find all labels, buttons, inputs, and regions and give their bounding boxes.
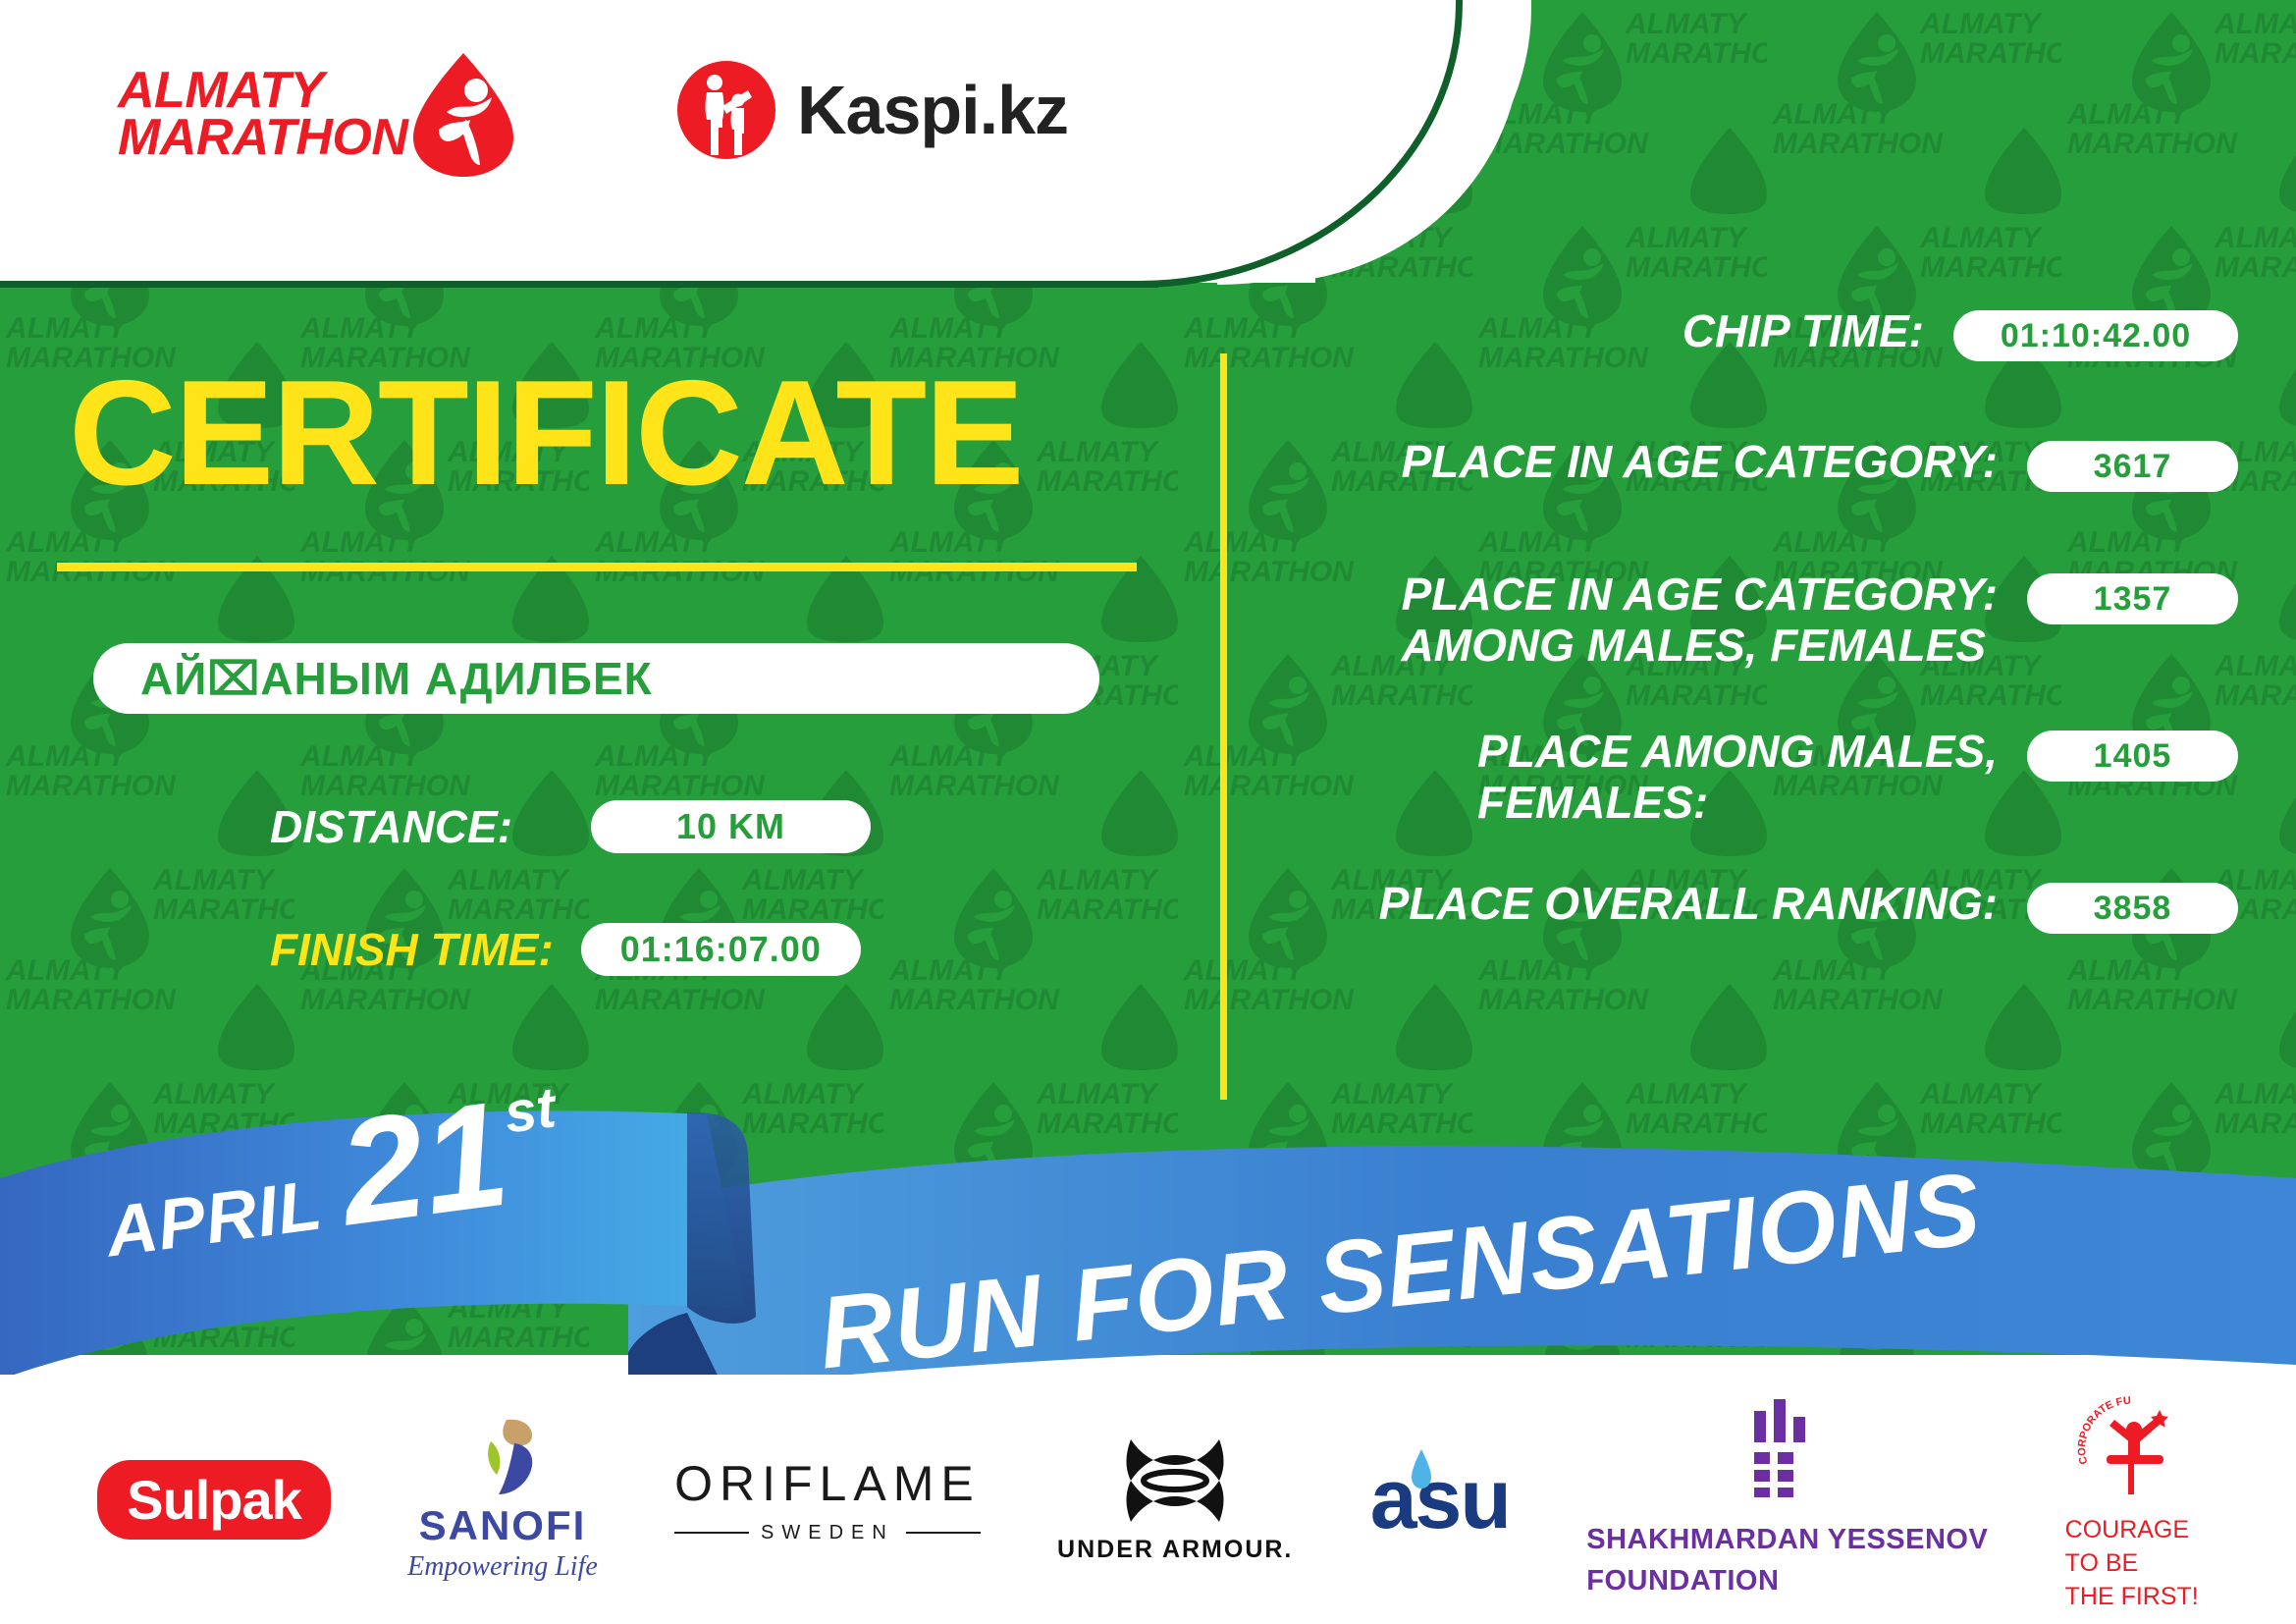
asu-text: asu: [1370, 1452, 1510, 1546]
courage-line1: COURAGE: [2065, 1514, 2199, 1547]
sponsor-logo-sulpak: Sulpak: [97, 1460, 331, 1540]
result-value-pill: 1405: [2027, 731, 2238, 782]
result-value: 1357: [2094, 580, 2172, 619]
almaty-marathon-line2: MARATHON: [118, 115, 407, 162]
event-day-ordinal: st: [501, 1074, 560, 1146]
sponsor-logo-yessenov-foundation: SHAKHMARDAN YESSENOV FOUNDATION: [1586, 1397, 1988, 1601]
almaty-marathon-wordmark: ALMATY MARATHON: [118, 68, 407, 162]
sanofi-tagline: Empowering Life: [407, 1551, 598, 1583]
kaspi-logo: Kaspi.kz: [677, 61, 1068, 159]
courage-line2: TO BE: [2065, 1547, 2199, 1581]
kaspi-people-circle-icon: [677, 61, 775, 159]
result-label: CHIP TIME:: [1682, 306, 1924, 357]
result-label: PLACE IN AGE CATEGORY:: [1402, 437, 1998, 488]
oriflame-sub: SWEDEN: [674, 1522, 981, 1544]
result-value-pill: 1357: [2027, 573, 2238, 624]
yessenov-line1: SHAKHMARDAN YESSENOV: [1586, 1519, 1988, 1560]
result-row: PLACE OVERALL RANKING: 3858: [1237, 879, 2238, 934]
result-value-pill: 3617: [2027, 441, 2238, 492]
title-divider-rule: [57, 563, 1137, 571]
yessenov-bars-icon: [1750, 1397, 1825, 1497]
svg-text:CORPORATE FUND: CORPORATE FUND: [2077, 1384, 2131, 1465]
result-value: 1405: [2094, 737, 2172, 776]
sponsor-logo-asu: asu: [1370, 1451, 1510, 1548]
sanofi-bird-icon: [455, 1416, 550, 1500]
result-row: PLACE AMONG MALES,FEMALES: 1405: [1237, 727, 2238, 828]
asu-drop-icon: [1410, 1447, 1433, 1490]
certificate-page: ALMATY MARATHON Kaspi.kz: [0, 0, 2296, 1624]
participant-name-field: АЙ⌧АНЫМ АДИЛБЕК: [93, 643, 1099, 714]
sponsor-logo-under-armour: UNDER ARMOUR.: [1057, 1435, 1293, 1564]
sanofi-wordmark: SANOFI: [419, 1502, 587, 1549]
oriflame-wordmark: ORIFLAME: [674, 1455, 981, 1512]
asu-wordmark: asu: [1370, 1451, 1510, 1548]
result-row: CHIP TIME: 01:10:42.00: [1237, 306, 2238, 361]
corporate-fund-figure-icon: CORPORATE FUND: [2077, 1384, 2187, 1500]
sponsor-logo-oriflame: ORIFLAME SWEDEN: [674, 1455, 981, 1544]
sulpak-wordmark: Sulpak: [127, 1468, 301, 1532]
under-armour-wordmark: UNDER ARMOUR.: [1057, 1536, 1293, 1564]
yessenov-line2: FOUNDATION: [1586, 1560, 1988, 1601]
yessenov-wordmark: SHAKHMARDAN YESSENOV FOUNDATION: [1586, 1519, 1988, 1601]
result-row: PLACE IN AGE CATEGORY:AMONG MALES, FEMAL…: [1237, 569, 2238, 671]
almaty-marathon-line1: ALMATY: [118, 68, 407, 115]
result-value: 3858: [2094, 890, 2172, 928]
result-label: PLACE OVERALL RANKING:: [1379, 879, 1998, 930]
result-value-pill: 3858: [2027, 883, 2238, 934]
courage-line3: THE FIRST!: [2065, 1581, 2199, 1614]
sponsor-bar: Sulpak SANOFI Empowering Life ORIFLAME S…: [0, 1375, 2296, 1624]
result-label: PLACE IN AGE CATEGORY:AMONG MALES, FEMAL…: [1402, 569, 1998, 671]
oriflame-tagline: SWEDEN: [761, 1522, 894, 1544]
result-value: 3617: [2094, 448, 2172, 486]
participant-name: АЙ⌧АНЫМ АДИЛБЕК: [93, 652, 653, 705]
header-dark-edge: [0, 281, 1158, 288]
result-row: PLACE IN AGE CATEGORY: 3617: [1237, 437, 2238, 492]
courage-wordmark: COURAGE TO BE THE FIRST!: [2065, 1514, 2199, 1613]
sponsor-logo-courage-to-be-the-first: CORPORATE FUND COURAGE TO BE THE FIRST!: [2065, 1384, 2199, 1613]
oriflame-rule-right: [906, 1532, 981, 1534]
almaty-marathon-logo: ALMATY MARATHON: [118, 51, 517, 179]
result-value: 01:10:42.00: [2001, 317, 2191, 355]
result-value-pill: 01:10:42.00: [1953, 310, 2238, 361]
results-panel: CHIP TIME: 01:10:42.00 PLACE IN AGE CATE…: [1237, 295, 2296, 1326]
certificate-title: CERTIFICATE: [69, 358, 1023, 508]
sponsor-logo-sanofi: SANOFI Empowering Life: [407, 1416, 598, 1583]
under-armour-icon: [1101, 1435, 1249, 1526]
kaspi-wordmark: Kaspi.kz: [797, 71, 1068, 149]
vertical-divider: [1220, 353, 1227, 1100]
oriflame-rule-left: [674, 1532, 749, 1534]
event-day: 21: [333, 1087, 514, 1242]
almaty-marathon-drop-runner-icon: [409, 51, 517, 179]
result-label: PLACE AMONG MALES,FEMALES:: [1477, 727, 1998, 828]
